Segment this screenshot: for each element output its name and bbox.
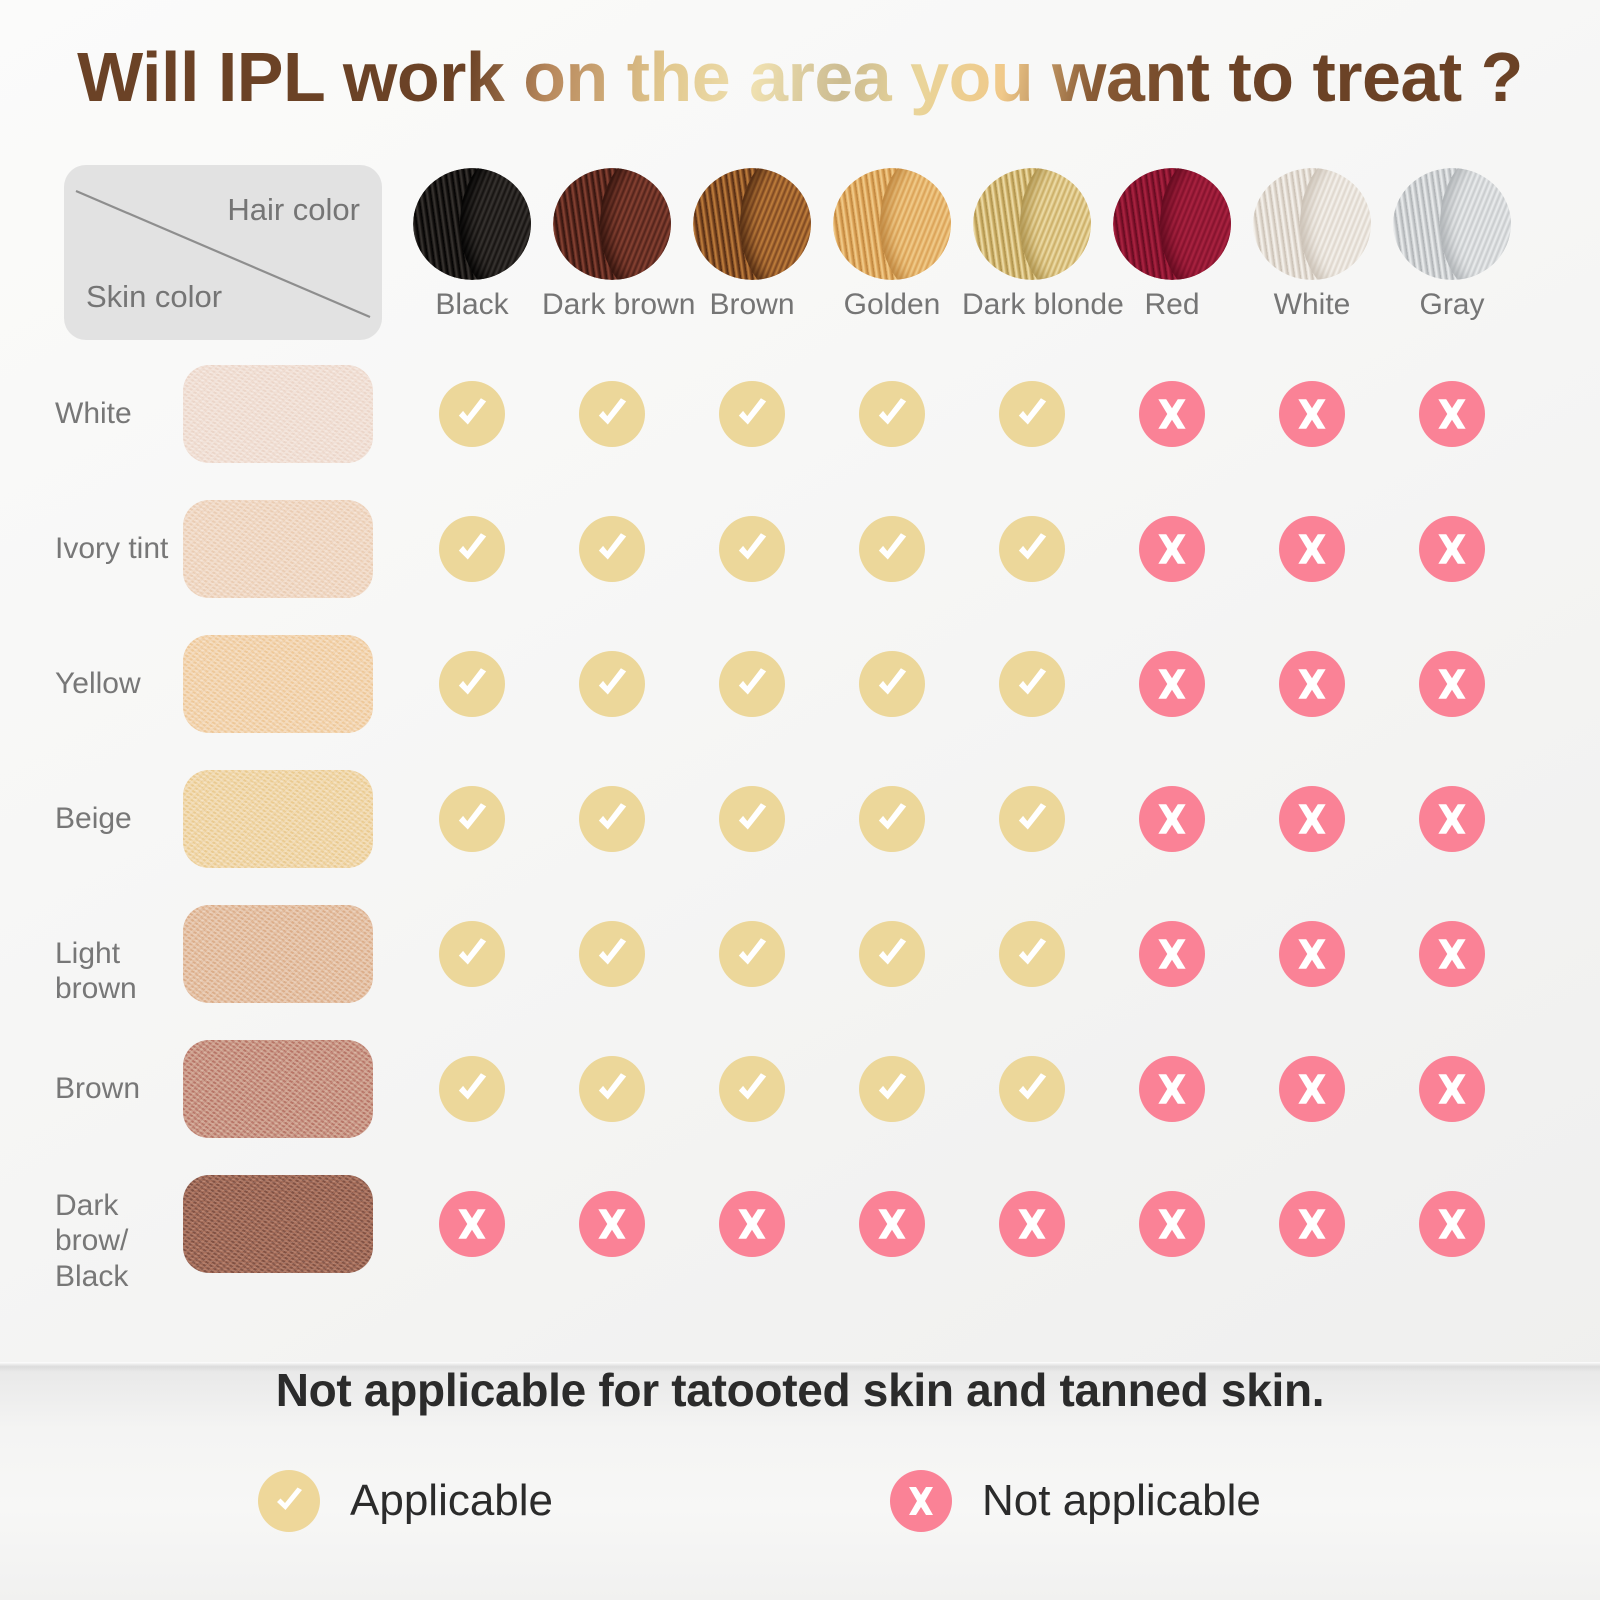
cell-applicable bbox=[719, 786, 785, 852]
hair-swatch-gray bbox=[1393, 168, 1511, 280]
cell-not-applicable bbox=[1139, 651, 1205, 717]
cell-not-applicable bbox=[1419, 651, 1485, 717]
cell-applicable bbox=[719, 921, 785, 987]
check-icon bbox=[1011, 663, 1053, 705]
cell-not-applicable bbox=[1419, 786, 1485, 852]
cell-not-applicable bbox=[1419, 516, 1485, 582]
hair-swatch-brown bbox=[693, 168, 811, 280]
check-icon bbox=[731, 663, 773, 705]
cell-not-applicable bbox=[1279, 516, 1345, 582]
legend-item-not-applicable: Not applicable bbox=[890, 1470, 1261, 1532]
cross-icon bbox=[1151, 1203, 1193, 1245]
skin-row-label: Light brown bbox=[55, 936, 183, 1007]
cell-applicable bbox=[859, 1056, 925, 1122]
cell-applicable bbox=[439, 786, 505, 852]
legend-item-applicable: Applicable bbox=[258, 1470, 553, 1532]
cell-not-applicable bbox=[999, 1191, 1065, 1257]
hair-swatch-dark-blonde bbox=[973, 168, 1091, 280]
cell-applicable bbox=[439, 381, 505, 447]
cell-applicable bbox=[999, 921, 1065, 987]
skin-row-label: Beige bbox=[55, 801, 183, 836]
check-icon bbox=[1011, 393, 1053, 435]
cell-applicable bbox=[999, 381, 1065, 447]
skin-row-label: Dark brow/Black bbox=[55, 1188, 183, 1294]
cell-not-applicable bbox=[579, 1191, 645, 1257]
check-icon bbox=[591, 663, 633, 705]
hair-column-label: Dark blonde bbox=[962, 288, 1102, 322]
cross-icon bbox=[591, 1203, 633, 1245]
cross-icon bbox=[1431, 663, 1473, 705]
cross-icon bbox=[1151, 798, 1193, 840]
cross-icon bbox=[1291, 933, 1333, 975]
footer-note: Not applicable for tatooted skin and tan… bbox=[0, 1363, 1600, 1417]
skin-row-label: Ivory tint bbox=[55, 531, 183, 566]
check-icon bbox=[258, 1470, 320, 1532]
cross-icon bbox=[1151, 528, 1193, 570]
cell-not-applicable bbox=[1279, 381, 1345, 447]
cell-applicable bbox=[859, 381, 925, 447]
check-icon bbox=[731, 1068, 773, 1110]
hair-column-label: Black bbox=[402, 288, 542, 322]
cell-not-applicable bbox=[1419, 381, 1485, 447]
cell-not-applicable bbox=[1139, 921, 1205, 987]
hair-column-header: Golden bbox=[822, 168, 962, 322]
cell-applicable bbox=[859, 651, 925, 717]
hair-column-header: Brown bbox=[682, 168, 822, 322]
cell-applicable bbox=[439, 921, 505, 987]
skin-swatch-white bbox=[183, 365, 373, 463]
cell-not-applicable bbox=[859, 1191, 925, 1257]
cell-not-applicable bbox=[1139, 381, 1205, 447]
cell-applicable bbox=[719, 381, 785, 447]
cross-icon bbox=[1011, 1203, 1053, 1245]
cell-applicable bbox=[719, 516, 785, 582]
cell-applicable bbox=[439, 1056, 505, 1122]
cell-not-applicable bbox=[439, 1191, 505, 1257]
check-icon bbox=[1011, 933, 1053, 975]
hair-swatch-white bbox=[1253, 168, 1371, 280]
check-icon bbox=[731, 528, 773, 570]
cell-not-applicable bbox=[719, 1191, 785, 1257]
check-icon bbox=[731, 933, 773, 975]
skin-row-label: Brown bbox=[55, 1071, 183, 1106]
check-icon bbox=[591, 933, 633, 975]
cross-icon bbox=[1431, 933, 1473, 975]
check-icon bbox=[731, 393, 773, 435]
cell-applicable bbox=[999, 651, 1065, 717]
cell-applicable bbox=[579, 381, 645, 447]
check-icon bbox=[451, 1068, 493, 1110]
cross-icon bbox=[1151, 393, 1193, 435]
cross-icon bbox=[1291, 528, 1333, 570]
hair-column-header: Black bbox=[402, 168, 542, 322]
cell-not-applicable bbox=[1279, 921, 1345, 987]
cell-applicable bbox=[999, 786, 1065, 852]
cell-not-applicable bbox=[1279, 651, 1345, 717]
cell-applicable bbox=[439, 651, 505, 717]
cross-icon bbox=[1431, 1203, 1473, 1245]
cell-applicable bbox=[859, 786, 925, 852]
hair-swatch-black bbox=[413, 168, 531, 280]
cell-applicable bbox=[439, 516, 505, 582]
axis-legend-cell: Hair color Skin color bbox=[64, 165, 382, 340]
check-icon bbox=[871, 528, 913, 570]
cross-icon bbox=[1291, 1068, 1333, 1110]
cross-icon bbox=[1431, 798, 1473, 840]
cross-icon bbox=[1291, 663, 1333, 705]
hair-column-header: Dark blonde bbox=[962, 168, 1102, 322]
cell-applicable bbox=[999, 516, 1065, 582]
check-icon bbox=[1011, 528, 1053, 570]
skin-swatch-yellow bbox=[183, 635, 373, 733]
hair-column-header: Red bbox=[1102, 168, 1242, 322]
hair-swatch-red bbox=[1113, 168, 1231, 280]
check-icon bbox=[731, 798, 773, 840]
cross-icon bbox=[1431, 1068, 1473, 1110]
cross-icon bbox=[1151, 933, 1193, 975]
cross-icon bbox=[1291, 393, 1333, 435]
hair-column-label: Golden bbox=[822, 288, 962, 322]
cell-not-applicable bbox=[1279, 1056, 1345, 1122]
cross-icon bbox=[731, 1203, 773, 1245]
check-icon bbox=[591, 528, 633, 570]
cell-not-applicable bbox=[1419, 921, 1485, 987]
legend: Applicable Not applicable bbox=[0, 1470, 1600, 1550]
cell-not-applicable bbox=[1279, 1191, 1345, 1257]
skin-swatch-brown bbox=[183, 1040, 373, 1138]
cell-not-applicable bbox=[1139, 786, 1205, 852]
hair-swatch-golden bbox=[833, 168, 951, 280]
legend-label-applicable: Applicable bbox=[350, 1476, 553, 1526]
cross-icon bbox=[1291, 798, 1333, 840]
cell-applicable bbox=[579, 516, 645, 582]
skin-swatch-light-brown bbox=[183, 905, 373, 1003]
check-icon bbox=[451, 393, 493, 435]
cross-icon bbox=[890, 1470, 952, 1532]
skin-swatch-ivory-tint bbox=[183, 500, 373, 598]
skin-swatch-beige bbox=[183, 770, 373, 868]
hair-column-header: Dark brown bbox=[542, 168, 682, 322]
hair-column-label: Red bbox=[1102, 288, 1242, 322]
compatibility-matrix: Hair color Skin color BlackDark brownBro… bbox=[0, 160, 1600, 1335]
hair-swatch-dark-brown bbox=[553, 168, 671, 280]
cell-applicable bbox=[719, 651, 785, 717]
cross-icon bbox=[1151, 1068, 1193, 1110]
cross-icon bbox=[1431, 528, 1473, 570]
hair-column-label: White bbox=[1242, 288, 1382, 322]
cell-applicable bbox=[579, 1056, 645, 1122]
cross-icon bbox=[451, 1203, 493, 1245]
cross-icon bbox=[1291, 1203, 1333, 1245]
legend-label-not-applicable: Not applicable bbox=[982, 1476, 1261, 1526]
check-icon bbox=[451, 798, 493, 840]
check-icon bbox=[871, 663, 913, 705]
check-icon bbox=[871, 933, 913, 975]
hair-column-label: Brown bbox=[682, 288, 822, 322]
check-icon bbox=[1011, 798, 1053, 840]
check-icon bbox=[591, 798, 633, 840]
hair-column-label: Gray bbox=[1382, 288, 1522, 322]
check-icon bbox=[451, 663, 493, 705]
cell-not-applicable bbox=[1139, 1191, 1205, 1257]
check-icon bbox=[871, 393, 913, 435]
skin-color-axis-label: Skin color bbox=[86, 279, 222, 315]
hair-column-header: Gray bbox=[1382, 168, 1522, 322]
cell-applicable bbox=[579, 921, 645, 987]
cell-not-applicable bbox=[1279, 786, 1345, 852]
check-icon bbox=[591, 1068, 633, 1110]
cell-not-applicable bbox=[1419, 1191, 1485, 1257]
cell-applicable bbox=[719, 1056, 785, 1122]
skin-row-label: White bbox=[55, 396, 183, 431]
cross-icon bbox=[871, 1203, 913, 1245]
cross-icon bbox=[1431, 393, 1473, 435]
check-icon bbox=[871, 1068, 913, 1110]
cell-applicable bbox=[859, 921, 925, 987]
check-icon bbox=[1011, 1068, 1053, 1110]
title-banner: Will IPL work on the area you want to tr… bbox=[0, 22, 1600, 132]
hair-column-header: White bbox=[1242, 168, 1382, 322]
cross-icon bbox=[1151, 663, 1193, 705]
cell-not-applicable bbox=[1139, 1056, 1205, 1122]
check-icon bbox=[451, 528, 493, 570]
cell-not-applicable bbox=[1419, 1056, 1485, 1122]
cell-applicable bbox=[579, 651, 645, 717]
check-icon bbox=[871, 798, 913, 840]
hair-color-axis-label: Hair color bbox=[227, 192, 360, 228]
page-title: Will IPL work on the area you want to tr… bbox=[77, 37, 1523, 117]
skin-swatch-dark-brow-black bbox=[183, 1175, 373, 1273]
check-icon bbox=[451, 933, 493, 975]
cell-applicable bbox=[859, 516, 925, 582]
skin-row-label: Yellow bbox=[55, 666, 183, 701]
cell-not-applicable bbox=[1139, 516, 1205, 582]
cell-applicable bbox=[999, 1056, 1065, 1122]
cell-applicable bbox=[579, 786, 645, 852]
hair-column-label: Dark brown bbox=[542, 288, 682, 322]
check-icon bbox=[591, 393, 633, 435]
